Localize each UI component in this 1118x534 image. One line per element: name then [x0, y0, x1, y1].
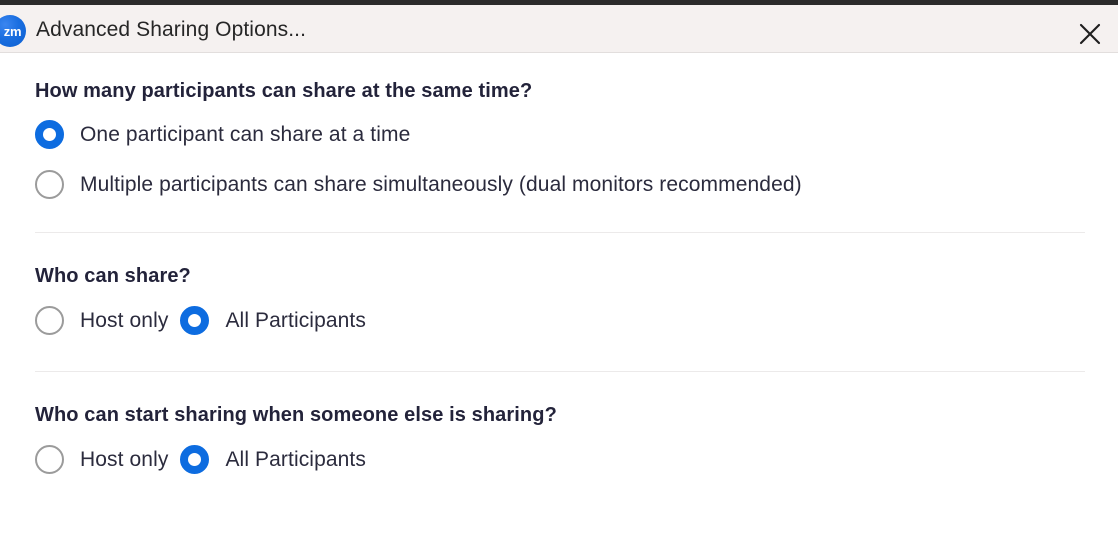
radio-label-one-participant: One participant can share at a time [80, 123, 410, 147]
radio-indicator-selected[interactable] [180, 306, 209, 335]
radio-group-who-can-share: Host only All Participants [35, 306, 1118, 335]
section-divider-1 [35, 232, 1085, 233]
titlebar-divider [0, 52, 1118, 53]
radio-indicator-unselected[interactable] [35, 306, 64, 335]
radio-indicator-selected[interactable] [180, 445, 209, 474]
radio-label-all-participants-share: All Participants [225, 309, 366, 333]
radio-group-who-can-start-sharing: Host only All Participants [35, 445, 1118, 474]
zoom-logo-text: zm [0, 24, 21, 39]
dialog-title: Advanced Sharing Options... [36, 19, 306, 40]
radio-label-all-participants-start: All Participants [225, 448, 366, 472]
section-divider-2 [35, 371, 1085, 372]
zoom-logo-icon: zm [0, 15, 26, 47]
advanced-sharing-options-dialog: zm Advanced Sharing Options... How many … [0, 0, 1118, 534]
section-heading-who-can-share: Who can share? [35, 265, 1118, 288]
radio-label-host-only-share: Host only [80, 309, 168, 333]
radio-option-host-only-share[interactable]: Host only [35, 306, 168, 335]
radio-option-one-participant[interactable]: One participant can share at a time [35, 120, 1118, 149]
radio-label-host-only-start: Host only [80, 448, 168, 472]
radio-option-host-only-start[interactable]: Host only [35, 445, 168, 474]
radio-option-multiple-participants[interactable]: Multiple participants can share simultan… [35, 170, 1118, 199]
dialog-titlebar: zm Advanced Sharing Options... [0, 0, 1118, 53]
radio-indicator-unselected[interactable] [35, 170, 64, 199]
section-who-can-start-sharing: Who can start sharing when someone else … [0, 404, 1118, 474]
section-who-can-share: Who can share? Host only All Participant… [0, 265, 1118, 335]
section-participants-count: How many participants can share at the s… [0, 80, 1118, 199]
radio-option-all-participants-share[interactable]: All Participants [180, 306, 366, 335]
close-button[interactable] [1062, 10, 1118, 58]
radio-label-multiple-participants: Multiple participants can share simultan… [80, 173, 802, 197]
radio-indicator-selected[interactable] [35, 120, 64, 149]
dialog-content: How many participants can share at the s… [0, 80, 1118, 474]
radio-indicator-unselected[interactable] [35, 445, 64, 474]
section-heading-participants-count: How many participants can share at the s… [35, 80, 1118, 103]
section-heading-who-can-start-sharing: Who can start sharing when someone else … [35, 404, 1118, 427]
close-icon [1077, 21, 1103, 47]
radio-option-all-participants-start[interactable]: All Participants [180, 445, 366, 474]
